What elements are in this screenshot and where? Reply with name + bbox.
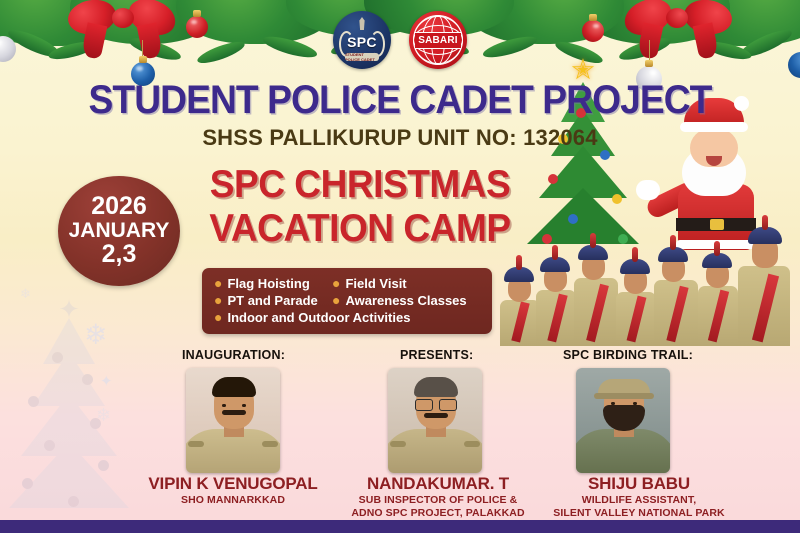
snowflake-icon: ❄ <box>96 405 111 426</box>
role-labels: INAUGURATION: PRESENTS: SPC BIRDING TRAI… <box>0 348 800 368</box>
cadet-figure <box>742 222 794 346</box>
person-name: VIPIN K VENUGOPAL <box>138 474 328 494</box>
cadet-figure <box>658 242 702 346</box>
activity-label: Indoor and Outdoor Activities <box>227 310 410 325</box>
bottom-bar <box>0 520 800 533</box>
person-role-line1: WILDLIFE ASSISTANT, <box>528 494 750 507</box>
role-label-inauguration: INAUGURATION: <box>182 348 285 362</box>
activity-label: PT and Parade <box>227 293 317 308</box>
photo-vipin-k-venugopal <box>186 368 280 473</box>
activities-box: ● Flag Hoisting ● Field Visit ● PT and P… <box>202 268 492 334</box>
bullet-icon: ● <box>332 293 340 307</box>
snowflake-icon: ❄ <box>20 286 31 302</box>
spc-logo-text: SPC <box>347 34 377 50</box>
activity-item: ● Awareness Classes <box>332 293 482 308</box>
person-block: NANDAKUMAR. T SUB INSPECTOR OF POLICE & … <box>340 474 536 520</box>
spc-logo: SPC STUDENT POLICE CADET <box>333 11 391 69</box>
photo-shiju-babu <box>576 368 670 473</box>
role-label-birding-trail: SPC BIRDING TRAIL: <box>563 348 693 362</box>
sabari-logo-text: SABARI <box>415 32 461 49</box>
sabari-logo: SABARI <box>409 11 467 69</box>
person-block: VIPIN K VENUGOPAL SHO MANNARKKAD <box>138 474 328 507</box>
snowflake-icon: ❄ <box>84 318 107 351</box>
snowflake-icon: ✦ <box>100 372 113 390</box>
activity-item: ● Flag Hoisting <box>214 276 332 291</box>
activity-item: ● Indoor and Outdoor Activities <box>214 310 482 325</box>
date-badge: 2026 JANUARY 2,3 <box>58 176 180 286</box>
activity-label: Awareness Classes <box>345 293 466 308</box>
cadet-figure <box>702 250 742 346</box>
name-strip: VIPIN K VENUGOPAL SHO MANNARKKAD NANDAKU… <box>0 474 800 520</box>
page-title: STUDENT POLICE CADET PROJECT <box>28 78 772 123</box>
christmas-camp-poster: ✦ ❄ ✦ ❄ ❄ <box>0 0 800 533</box>
activity-label: Field Visit <box>345 276 406 291</box>
person-block: SHIJU BABU WILDLIFE ASSISTANT, SILENT VA… <box>528 474 750 520</box>
bullet-icon: ● <box>214 293 222 307</box>
national-emblem-icon <box>356 17 368 30</box>
role-label-presents: PRESENTS: <box>400 348 473 362</box>
activity-item: ● Field Visit <box>332 276 482 291</box>
date-days: 2,3 <box>102 242 137 268</box>
person-role-line2: ADNO SPC PROJECT, PALAKKAD <box>340 507 536 520</box>
activity-item: ● PT and Parade <box>214 293 332 308</box>
spc-logo-ribbon: STUDENT POLICE CADET <box>345 53 379 61</box>
photo-nandakumar-t <box>388 368 482 473</box>
unit-subtitle: SHSS PALLIKURUP UNIT NO: 132064 <box>0 125 800 151</box>
bullet-icon: ● <box>214 276 222 290</box>
person-name: SHIJU BABU <box>528 474 750 494</box>
person-role-line2: SILENT VALLEY NATIONAL PARK <box>528 507 750 520</box>
logo-row: SPC STUDENT POLICE CADET SABARI <box>0 11 800 69</box>
person-name: NANDAKUMAR. T <box>340 474 536 494</box>
person-role-line1: SUB INSPECTOR OF POLICE & <box>340 494 536 507</box>
santa-glove <box>636 180 660 200</box>
camp-title-line2: VACATION CAMP <box>161 207 560 251</box>
camp-title-line1: SPC CHRISTMAS <box>161 163 560 207</box>
bullet-icon: ● <box>214 310 222 324</box>
date-year: 2026 <box>91 194 147 220</box>
bullet-icon: ● <box>332 276 340 290</box>
date-month: JANUARY <box>69 220 170 242</box>
activity-label: Flag Hoisting <box>227 276 309 291</box>
person-role-line1: SHO MANNARKKAD <box>138 494 328 507</box>
